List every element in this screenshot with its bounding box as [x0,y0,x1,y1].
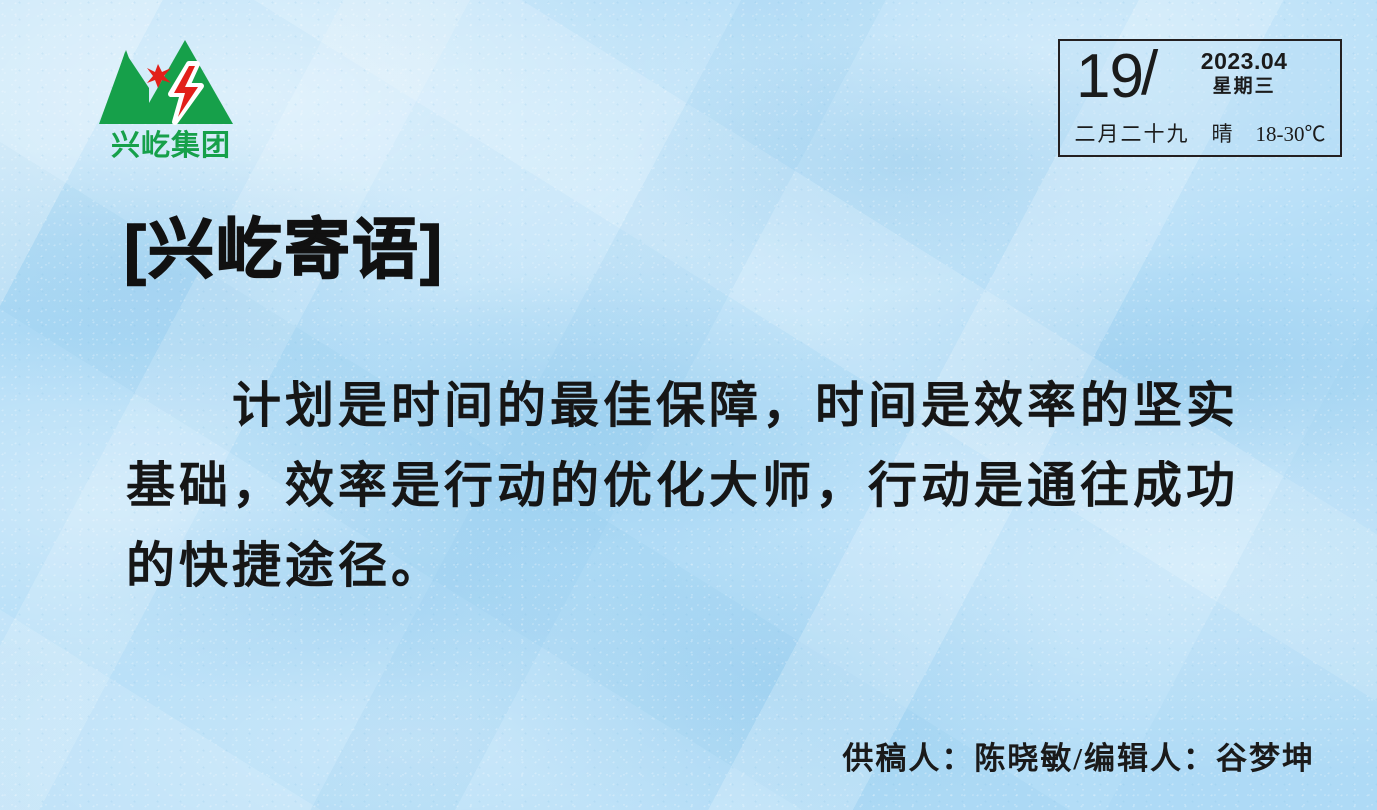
message-paragraph: 计划是时间的最佳保障，时间是效率的坚实基础，效率是行动的优化大师，行动是通往成功… [126,366,1256,606]
weather-text: 晴 [1212,118,1234,148]
date-slash: / [1141,43,1158,105]
year-month: 2023.04 [1158,49,1330,73]
poster-canvas: 兴屹集团 19 / 2023.04 星期三 二月二十九 晴 18-30℃ [兴屹… [0,0,1377,810]
lunar-date: 二月二十九 [1075,118,1190,148]
message-body: 计划是时间的最佳保障，时间是效率的坚实基础，效率是行动的优化大师，行动是通往成功… [126,366,1256,606]
logo-wordmark: 兴屹集团 [97,132,245,161]
year-month-block: 2023.04 星期三 [1158,43,1330,99]
weekday: 星期三 [1158,75,1330,99]
page-title: [兴屹寄语] [124,213,444,286]
date-badge-bottom-row: 二月二十九 晴 18-30℃ [1060,113,1340,153]
date-badge: 19 / 2023.04 星期三 二月二十九 晴 18-30℃ [1058,39,1342,157]
company-logo: 兴屹集团 [97,36,245,160]
date-badge-top-row: 19 / 2023.04 星期三 [1060,41,1340,113]
temperature-range: 18-30℃ [1256,118,1326,148]
credits-line: 供稿人：陈晓敏/编辑人：谷梦坤 [842,733,1315,778]
day-number: 19 [1068,43,1143,111]
